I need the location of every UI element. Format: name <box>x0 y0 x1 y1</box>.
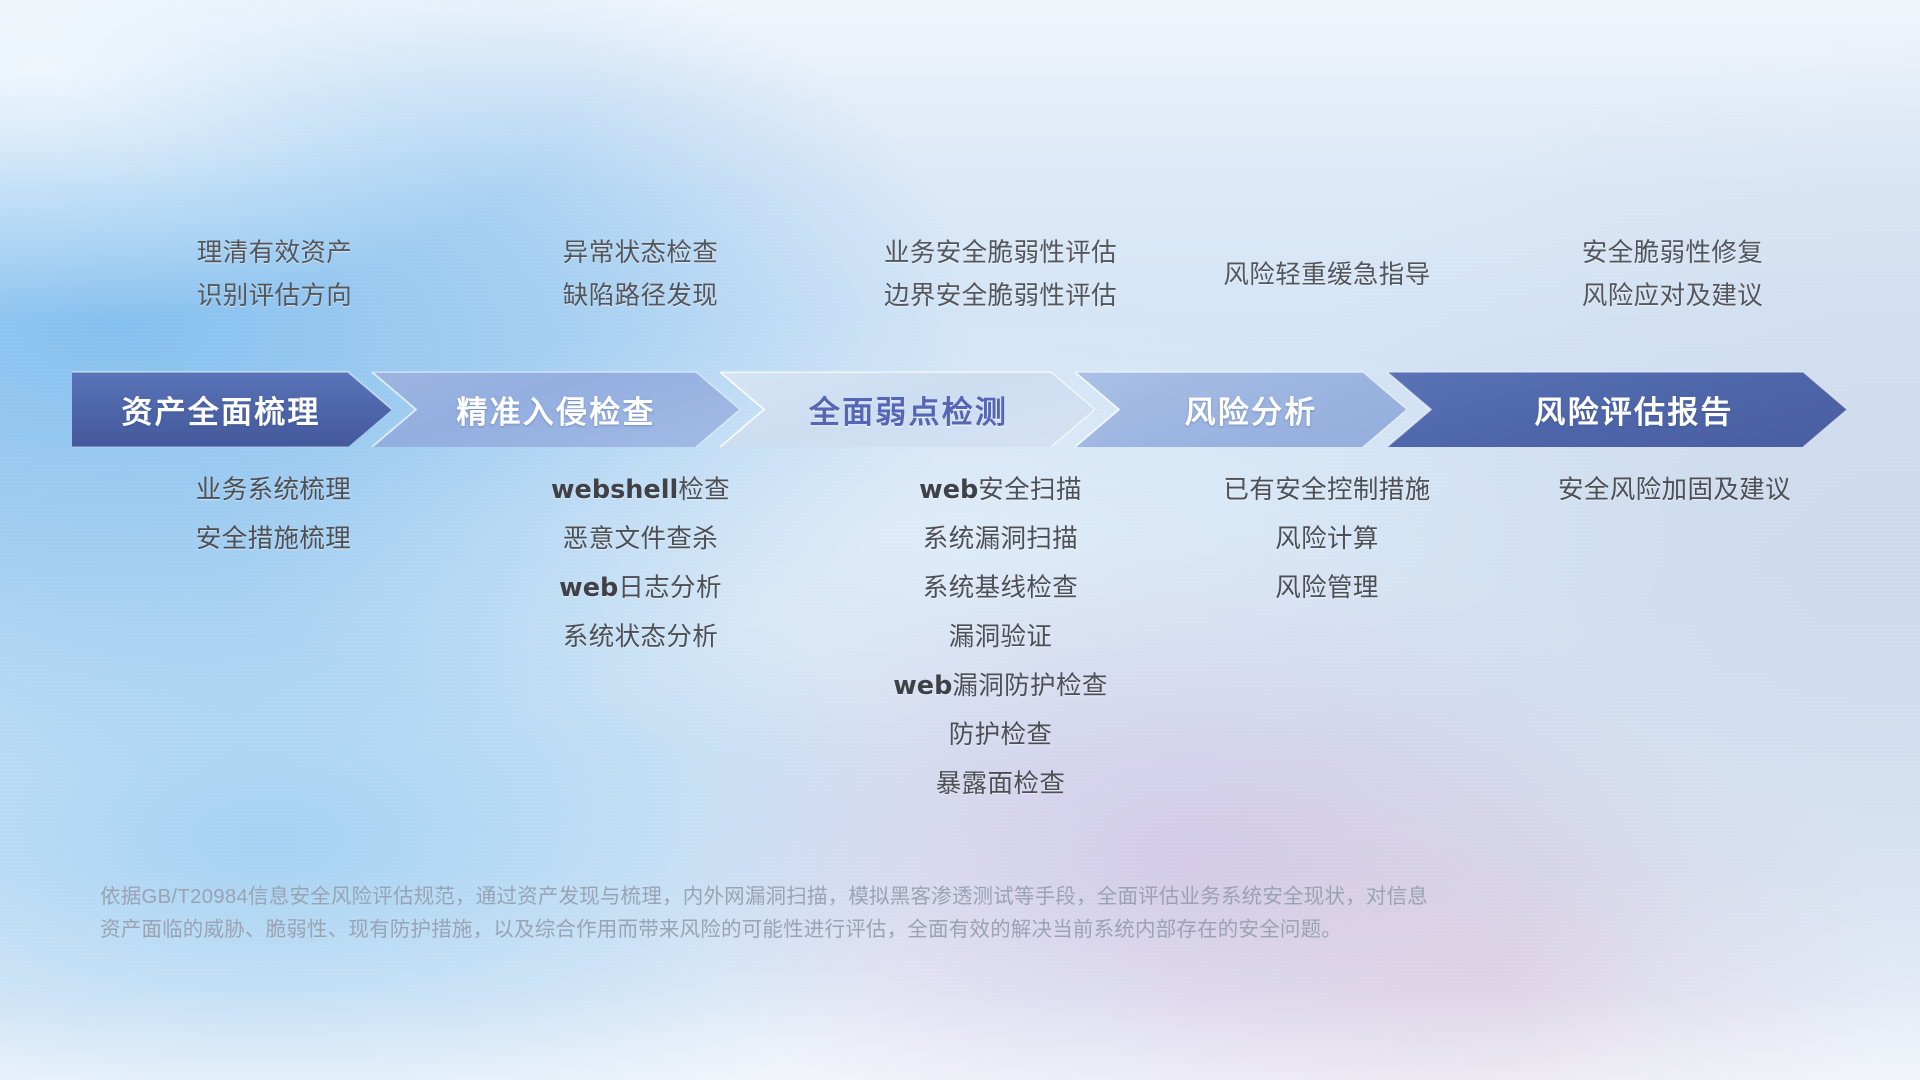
stage-title: 风险评估报告 <box>1496 387 1737 432</box>
pre-outcome-text: 风险应对及建议 <box>1496 275 1849 318</box>
pre-outcomes-risk-analysis: 风险轻重缓急指导 <box>1182 254 1472 340</box>
pre-outcomes-asset-inventory: 理清有效资产 识别评估方向 <box>91 232 458 318</box>
pre-outcomes-intrusion-check: 异常状态检查 缺陷路径发现 <box>462 232 819 318</box>
activity-item: 业务系统梳理 <box>90 466 457 515</box>
activity-cjk: 检查 <box>678 476 730 504</box>
activity-item: 风险管理 <box>1182 564 1472 613</box>
pre-outcomes-row: 理清有效资产 识别评估方向 异常状态检查 缺陷路径发现 业务安全脆弱性评估 边界… <box>95 232 1825 318</box>
stage-arrow-risk-analysis[interactable]: 风险分析 <box>1075 371 1407 448</box>
activity-cjk: 系统基线检查 <box>923 574 1078 602</box>
slide-canvas: 理清有效资产 识别评估方向 异常状态检查 缺陷路径发现 业务安全脆弱性评估 边界… <box>0 0 1920 1080</box>
pre-outcome-text: 异常状态检查 <box>462 232 819 275</box>
activity-item: 安全风险加固及建议 <box>1498 466 1851 515</box>
activity-item: web安全扫描 <box>819 466 1182 515</box>
activity-cjk: 漏洞验证 <box>949 623 1053 651</box>
activity-cjk: 系统漏洞扫描 <box>923 525 1078 553</box>
stage-arrow-asset-inventory[interactable]: 资产全面梳理 <box>72 371 392 448</box>
activity-latin: web <box>559 573 618 603</box>
activity-latin: web <box>919 475 978 505</box>
activity-item: 已有安全控制措施 <box>1182 466 1472 515</box>
process-arrow-band: 资产全面梳理 <box>72 371 1847 448</box>
activity-item: 漏洞验证 <box>819 613 1182 662</box>
activity-item: 恶意文件查杀 <box>462 515 819 564</box>
stage-title: 风险分析 <box>1159 387 1324 432</box>
activity-cjk: 安全措施梳理 <box>196 525 351 553</box>
activity-item: 安全措施梳理 <box>90 515 457 564</box>
activity-cjk: 漏洞防护检查 <box>952 672 1107 700</box>
activities-asset-inventory: 业务系统梳理 安全措施梳理 <box>90 466 457 809</box>
activity-latin: web <box>893 671 952 701</box>
stage-title: 全面弱点检测 <box>793 387 1022 432</box>
description-line: 依据GB/T20984信息安全风险评估规范，通过资产发现与梳理，内外网漏洞扫描，… <box>100 880 1660 913</box>
activity-cjk: 恶意文件查杀 <box>563 525 718 553</box>
activities-row: 业务系统梳理 安全措施梳理 webshell检查 恶意文件查杀 web日志分析 <box>95 466 1825 809</box>
activity-item: 防护检查 <box>819 711 1182 760</box>
pre-outcome-text: 业务安全脆弱性评估 <box>819 232 1182 275</box>
activity-cjk: 业务系统梳理 <box>196 476 351 504</box>
activities-risk-analysis: 已有安全控制措施 风险计算 风险管理 <box>1182 466 1472 809</box>
activity-cjk: 风险管理 <box>1275 574 1379 602</box>
activity-item: 风险计算 <box>1182 515 1472 564</box>
stage-arrow-assessment-report[interactable]: 风险评估报告 <box>1387 371 1847 448</box>
pre-outcome-text: 边界安全脆弱性评估 <box>819 275 1182 318</box>
activity-item: 系统漏洞扫描 <box>819 515 1182 564</box>
activities-weakness-detection: web安全扫描 系统漏洞扫描 系统基线检查 漏洞验证 web漏洞防护检查 防护检… <box>819 466 1182 809</box>
activity-cjk: 防护检查 <box>949 721 1053 749</box>
pre-outcome-text: 安全脆弱性修复 <box>1496 232 1849 275</box>
activity-cjk: 安全扫描 <box>978 476 1082 504</box>
activity-cjk: 已有安全控制措施 <box>1223 476 1430 504</box>
activity-item: web漏洞防护检查 <box>819 662 1182 711</box>
activity-cjk: 风险计算 <box>1275 525 1379 553</box>
stage-title: 精准入侵检查 <box>440 387 671 432</box>
activity-item: 暴露面检查 <box>819 760 1182 809</box>
activity-item: webshell检查 <box>462 466 819 515</box>
activity-cjk: 系统状态分析 <box>563 623 718 651</box>
diagram-content: 理清有效资产 识别评估方向 异常状态检查 缺陷路径发现 业务安全脆弱性评估 边界… <box>0 0 1920 1080</box>
activity-item: 系统基线检查 <box>819 564 1182 613</box>
activity-latin: webshell <box>551 475 678 505</box>
activity-cjk: 安全风险加固及建议 <box>1558 476 1791 504</box>
stage-arrow-weakness-detection[interactable]: 全面弱点检测 <box>720 371 1095 448</box>
pre-outcomes-weakness-detection: 业务安全脆弱性评估 边界安全脆弱性评估 <box>819 232 1182 318</box>
activity-item: web日志分析 <box>462 564 819 613</box>
pre-outcome-text: 缺陷路径发现 <box>462 275 819 318</box>
stage-arrow-intrusion-check[interactable]: 精准入侵检查 <box>372 371 740 448</box>
activity-item: 系统状态分析 <box>462 613 819 662</box>
pre-outcomes-assessment-report: 安全脆弱性修复 风险应对及建议 <box>1496 232 1849 318</box>
activities-assessment-report: 安全风险加固及建议 <box>1498 466 1851 809</box>
activities-intrusion-check: webshell检查 恶意文件查杀 web日志分析 系统状态分析 <box>462 466 819 809</box>
activity-cjk: 日志分析 <box>618 574 722 602</box>
activity-cjk: 暴露面检查 <box>936 770 1066 798</box>
description-line: 资产面临的威胁、脆弱性、现有防护措施，以及综合作用而带来风险的可能性进行评估，全… <box>100 913 1660 946</box>
description-paragraph: 依据GB/T20984信息安全风险评估规范，通过资产发现与梳理，内外网漏洞扫描，… <box>100 880 1660 946</box>
pre-outcome-text: 识别评估方向 <box>91 275 458 318</box>
pre-outcome-text: 理清有效资产 <box>91 232 458 275</box>
stage-title: 资产全面梳理 <box>121 387 342 432</box>
pre-outcome-text: 风险轻重缓急指导 <box>1182 254 1472 297</box>
